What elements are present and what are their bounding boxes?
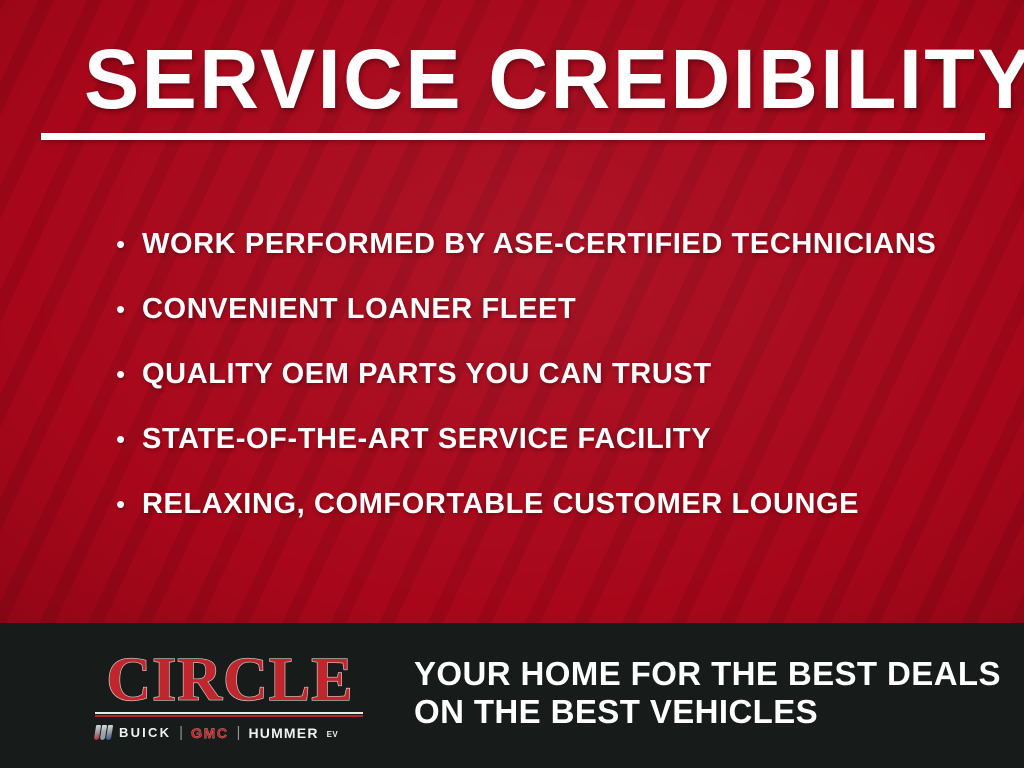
list-item-label: RELAXING, COMFORTABLE CUSTOMER LOUNGE — [142, 488, 859, 521]
dealer-logo: CIRCLE BUICK | GMC | HUMMER EV — [95, 651, 365, 741]
bullet-dot-icon: • — [116, 296, 142, 322]
list-item: • CONVENIENT LOANER FLEET — [116, 293, 996, 358]
brand-strip: BUICK | GMC | HUMMER EV — [95, 724, 365, 741]
buick-trishield-icon — [95, 725, 112, 740]
list-item-label: CONVENIENT LOANER FLEET — [142, 293, 576, 326]
brand-label-hummer: HUMMER — [248, 725, 318, 741]
bullet-dot-icon: • — [116, 231, 142, 257]
list-item-label: STATE-OF-THE-ART SERVICE FACILITY — [142, 423, 711, 456]
brand-separator-icon: | — [179, 724, 183, 741]
bullet-list: • WORK PERFORMED BY ASE-CERTIFIED TECHNI… — [116, 228, 996, 553]
footer-tagline: YOUR HOME FOR THE BEST DEALS ON THE BEST… — [414, 655, 1001, 731]
list-item: • QUALITY OEM PARTS YOU CAN TRUST — [116, 358, 996, 423]
bullet-dot-icon: • — [116, 426, 142, 452]
logo-rule-red — [95, 715, 363, 717]
tagline-line-1: YOUR HOME FOR THE BEST DEALS — [414, 655, 1001, 693]
brand-label-ev: EV — [327, 730, 338, 739]
page-title: SERVICE CREDIBILITY — [84, 33, 1024, 125]
slide-canvas: SERVICE CREDIBILITY • WORK PERFORMED BY … — [0, 0, 1024, 768]
list-item-label: QUALITY OEM PARTS YOU CAN TRUST — [142, 358, 712, 391]
dealer-wordmark: CIRCLE — [95, 651, 365, 709]
brand-label-gmc: GMC — [191, 725, 228, 741]
list-item: • RELAXING, COMFORTABLE CUSTOMER LOUNGE — [116, 488, 996, 553]
title-underline-rule — [41, 133, 985, 140]
list-item: • WORK PERFORMED BY ASE-CERTIFIED TECHNI… — [116, 228, 996, 293]
list-item-label: WORK PERFORMED BY ASE-CERTIFIED TECHNICI… — [142, 228, 936, 261]
list-item: • STATE-OF-THE-ART SERVICE FACILITY — [116, 423, 996, 488]
bullet-dot-icon: • — [116, 361, 142, 387]
brand-separator-icon: | — [237, 724, 241, 741]
tagline-line-2: ON THE BEST VEHICLES — [414, 693, 1001, 731]
brand-label-buick: BUICK — [119, 725, 171, 740]
footer-bar: CIRCLE BUICK | GMC | HUMMER EV YOUR HOME… — [0, 623, 1024, 768]
bullet-dot-icon: • — [116, 491, 142, 517]
content-panel: SERVICE CREDIBILITY • WORK PERFORMED BY … — [0, 0, 1024, 623]
